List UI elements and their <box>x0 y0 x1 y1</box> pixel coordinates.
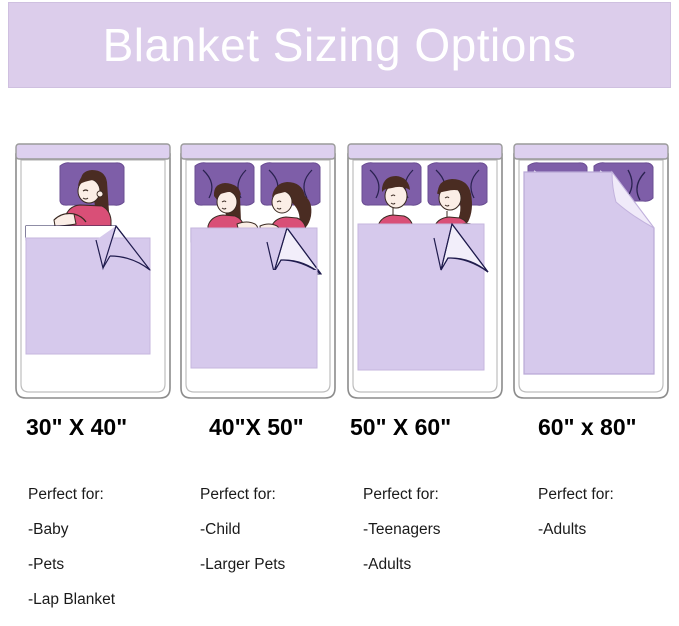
perfect-for-heading: Perfect for: <box>538 486 679 504</box>
perfect-for-item: -Teenagers <box>363 521 533 539</box>
size-label-50x60: 50" X 60" <box>350 414 451 441</box>
perfect-for-item: -Adults <box>538 521 679 539</box>
bed-panel-30x40 <box>10 140 176 402</box>
bed-panel-60x80 <box>508 140 674 402</box>
perfect-for-column-50x60: Perfect for: -Teenagers -Adults <box>363 486 533 591</box>
bed-illustration-one-child <box>10 140 176 402</box>
header-banner: Blanket Sizing Options <box>8 2 671 88</box>
perfect-for-column-60x80: Perfect for: -Adults <box>538 486 679 556</box>
bed-panel-40x50 <box>175 140 341 402</box>
bed-illustration-empty <box>508 140 674 402</box>
perfect-for-row: Perfect for: -Baby -Pets -Lap Blanket Pe… <box>0 486 679 606</box>
size-label-40x50: 40"X 50" <box>209 414 304 441</box>
size-label-60x80: 60" x 80" <box>538 414 637 441</box>
perfect-for-column-30x40: Perfect for: -Baby -Pets -Lap Blanket <box>28 486 198 626</box>
bed-illustration-two-adults <box>342 140 508 402</box>
perfect-for-heading: Perfect for: <box>200 486 370 504</box>
bed-illustration-two-children <box>175 140 341 402</box>
perfect-for-item: -Adults <box>363 556 533 574</box>
size-label-30x40: 30" X 40" <box>26 414 127 441</box>
perfect-for-item: -Lap Blanket <box>28 591 198 609</box>
perfect-for-heading: Perfect for: <box>28 486 198 504</box>
bed-illustration-row <box>0 140 679 402</box>
bed-panel-50x60 <box>342 140 508 402</box>
perfect-for-item: -Larger Pets <box>200 556 370 574</box>
page-title: Blanket Sizing Options <box>103 22 577 68</box>
size-label-row: 30" X 40" 40"X 50" 50" X 60" 60" x 80" <box>0 414 679 454</box>
perfect-for-column-40x50: Perfect for: -Child -Larger Pets <box>200 486 370 591</box>
perfect-for-item: -Child <box>200 521 370 539</box>
perfect-for-item: -Baby <box>28 521 198 539</box>
perfect-for-item: -Pets <box>28 556 198 574</box>
perfect-for-heading: Perfect for: <box>363 486 533 504</box>
